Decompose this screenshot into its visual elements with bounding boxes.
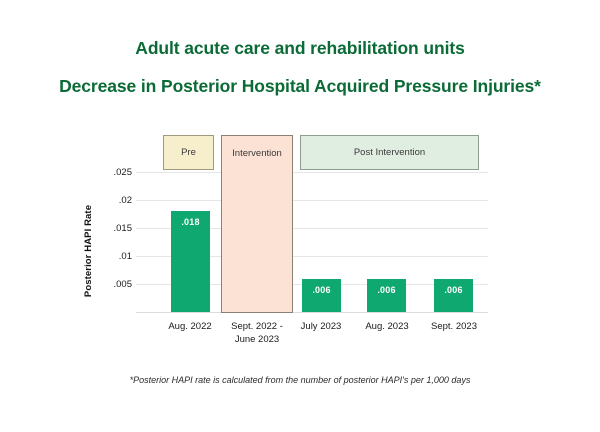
bar-value-sept-2023: .006 [434, 285, 473, 295]
bar-sept-2023: .006 [434, 279, 473, 312]
y-tick-label-025: .025 [98, 168, 132, 178]
y-axis-title: Posterior HAPI Rate [82, 186, 96, 316]
intervention-band: Intervention [221, 135, 293, 313]
x-tick-label-sept-2023: Sept. 2023 [414, 320, 494, 333]
y-tick-label-02: .02 [98, 196, 132, 206]
x-tick-label-intervention-line2: June 2023 [216, 333, 298, 346]
gridline-baseline [136, 312, 488, 313]
bar-aug-2022: .018 [171, 211, 210, 312]
bar-value-july-2023: .006 [302, 285, 341, 295]
footnote: *Posterior HAPI rate is calculated from … [0, 375, 600, 385]
chart-subtitle: Adult acute care and rehabilitation unit… [0, 36, 600, 60]
phase-banner-pre: Pre [163, 135, 214, 170]
plot-area: Pre Intervention Post Intervention .018 … [136, 135, 488, 313]
phase-label-intervention: Intervention [222, 136, 292, 171]
bar-july-2023: .006 [302, 279, 341, 312]
phase-label-post: Post Intervention [354, 147, 425, 158]
page-title: Decrease in Posterior Hospital Acquired … [0, 74, 600, 98]
y-tick-label-015: .015 [98, 224, 132, 234]
gridline-02 [136, 200, 488, 201]
bar-value-aug-2022: .018 [171, 217, 210, 227]
y-tick-label-01: .01 [98, 252, 132, 262]
gridline-025 [136, 172, 488, 173]
x-tick-label-sept-2023-line1: Sept. 2023 [414, 320, 494, 333]
bar-aug-2023: .006 [367, 279, 406, 312]
chart-title-block: Adult acute care and rehabilitation unit… [0, 36, 600, 98]
chart-page: Adult acute care and rehabilitation unit… [0, 0, 600, 432]
y-tick-label-005: .005 [98, 280, 132, 290]
phase-label-pre: Pre [181, 147, 196, 158]
bar-value-aug-2023: .006 [367, 285, 406, 295]
phase-banner-post: Post Intervention [300, 135, 479, 170]
